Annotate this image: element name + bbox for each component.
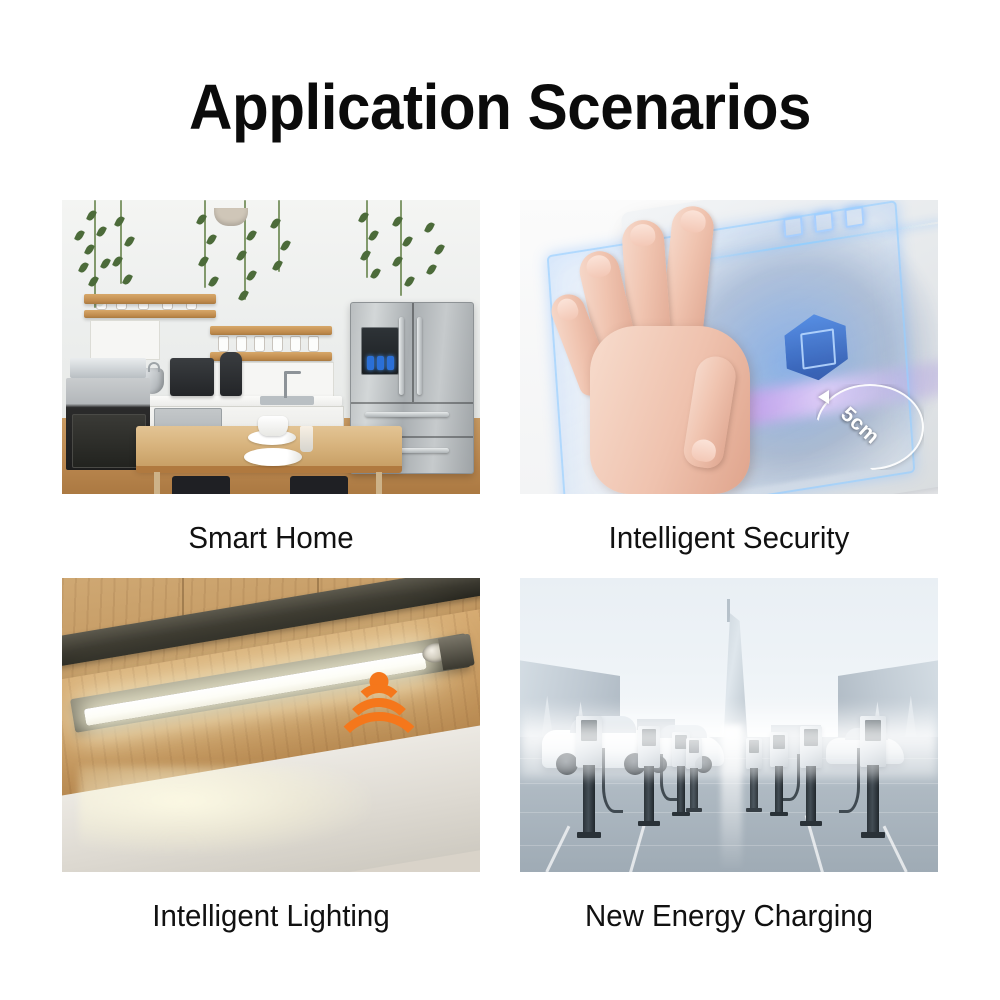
sensing-distance-indicator: 5cm <box>816 384 924 470</box>
fridge-handle-right <box>417 317 422 395</box>
charger-base <box>800 821 821 826</box>
fingernail <box>629 223 656 247</box>
scenario-grid: Smart Home <box>62 200 938 930</box>
charger-base <box>577 832 602 838</box>
fingernail <box>690 438 717 463</box>
scenario-label-intelligent-lighting: Intelligent Lighting <box>72 898 469 934</box>
hand <box>562 206 777 494</box>
hanging-plant-right <box>348 200 468 304</box>
charger-base <box>746 808 761 812</box>
kitchen-table-leg-right <box>376 472 382 494</box>
kitchen-sink <box>260 396 314 405</box>
kitchen-table-leg-left <box>154 472 160 494</box>
kitchen-chair-right <box>290 476 348 494</box>
scenario-label-smart-home: Smart Home <box>72 520 469 556</box>
kitchen-bowl <box>258 416 288 436</box>
sensor-icon-arc-3 <box>329 712 429 812</box>
distance-arrow-icon <box>818 390 829 404</box>
intelligent-lighting-photo <box>62 578 480 872</box>
kitchen-backsplash-left <box>90 320 160 360</box>
kitchen-coffee-grinder <box>220 352 242 396</box>
kitchen-range-backguard <box>70 358 146 378</box>
hanging-plant-center <box>182 200 322 304</box>
smart-home-photo <box>62 200 480 494</box>
charger-base <box>861 832 886 838</box>
fridge-handle-left <box>399 317 404 395</box>
kitchen-plate-front <box>244 448 302 466</box>
kitchen-glass-shelf-board <box>210 326 332 335</box>
fingernail <box>584 253 612 280</box>
motion-sensor-wave-icon <box>340 670 418 734</box>
scenario-card-new-energy-charging[interactable]: New Energy Charging <box>520 578 938 934</box>
kitchen-faucet-spout <box>284 371 301 374</box>
page-title: Application Scenarios <box>30 72 970 142</box>
fingernail <box>554 296 581 324</box>
intelligent-security-photo: 5cm <box>520 200 938 494</box>
scenario-card-smart-home[interactable]: Smart Home <box>62 200 480 556</box>
charger-base <box>672 812 689 816</box>
kitchen-espresso-machine <box>170 358 214 396</box>
charger-base <box>686 808 701 812</box>
charger-base <box>770 812 787 816</box>
ground-glare <box>721 725 742 872</box>
charger-base <box>638 821 659 826</box>
kitchen-table-edge <box>136 466 402 473</box>
kitchen-upper-shelf <box>84 310 216 318</box>
fingernail <box>680 209 707 234</box>
application-scenarios-page: Application Scenarios <box>0 0 1000 1000</box>
scenario-label-new-energy-charging: New Energy Charging <box>530 898 927 934</box>
fridge-water-dispenser <box>361 327 399 375</box>
fridge-drawer-handle-1 <box>365 412 449 417</box>
scenario-card-intelligent-lighting[interactable]: Intelligent Lighting <box>62 578 480 934</box>
scenario-label-intelligent-security: Intelligent Security <box>530 520 927 556</box>
led-bar-endcap <box>438 633 475 670</box>
kitchen-oven-door <box>72 414 146 468</box>
new-energy-charging-photo <box>520 578 938 872</box>
scenario-card-intelligent-security[interactable]: 5cm Intelligent Security <box>520 200 938 556</box>
kitchen-chair-left <box>172 476 230 494</box>
kitchen-glass <box>300 426 313 452</box>
kitchen-shelf-board <box>84 294 216 304</box>
light-pool <box>79 766 372 854</box>
kitchen-faucet <box>284 372 287 398</box>
